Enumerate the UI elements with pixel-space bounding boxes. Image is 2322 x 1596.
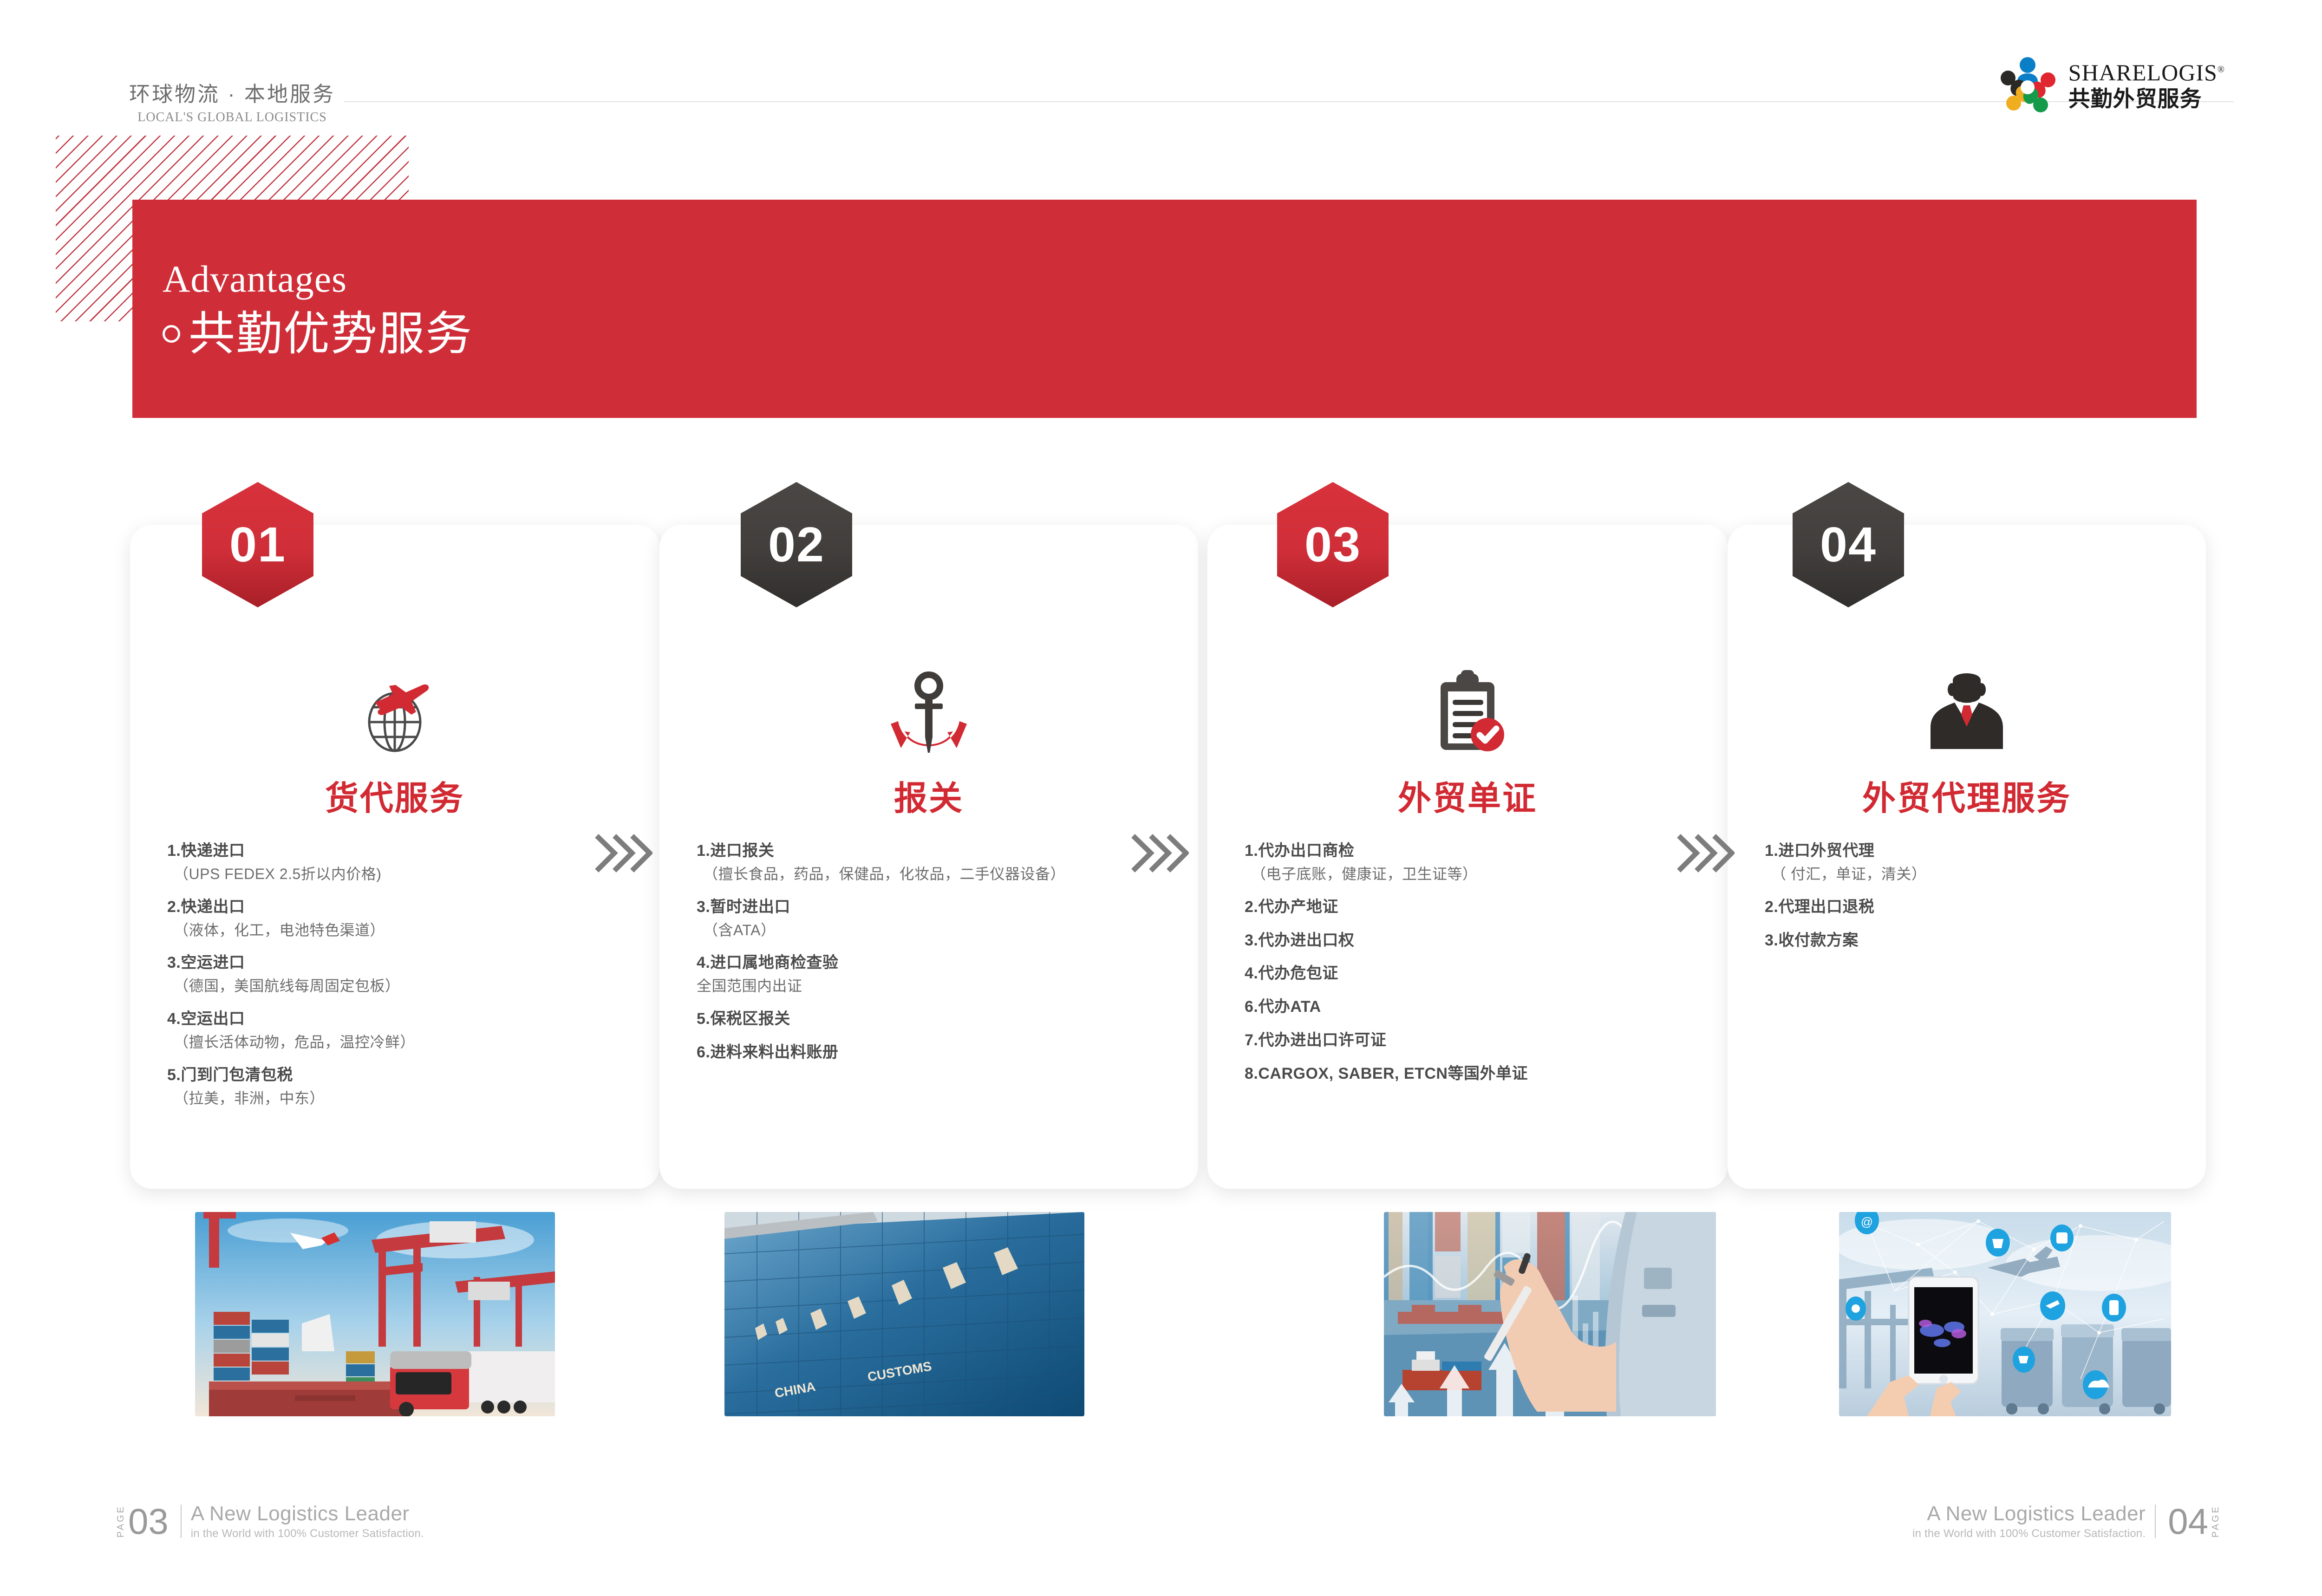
list-item: 1.进口报关 （擅长食品，药品，保健品，化妆品，二手仪器设备）: [697, 840, 1161, 885]
advantage-card-03[interactable]: 03 外贸单证 1.代办出口商检: [1207, 525, 1728, 1189]
list-item-sub: （拉美，非洲，中东）: [174, 1088, 622, 1109]
airplane-globe-icon: [130, 664, 659, 762]
footer-left: PAGE 03 A New Logistics Leader in the Wo…: [116, 1502, 424, 1540]
list-item-main: 8.CARGOX, SABER, ETCN等国外单证: [1245, 1063, 1690, 1085]
footer-tagline-main: A New Logistics Leader: [1927, 1502, 2146, 1526]
list-item-main: 1.进口外贸代理: [1765, 840, 2169, 862]
list-item-sub: （UPS FEDEX 2.5折以内价格): [174, 864, 622, 885]
list-item: 3.收付款方案: [1765, 930, 2169, 951]
anchor-icon: [659, 664, 1198, 762]
card-number-02: 02: [768, 520, 825, 569]
inspector-clipboard-port-photo: [1384, 1212, 1716, 1416]
list-item: 2.代办产地证: [1245, 897, 1690, 918]
card-title-01: 货代服务: [130, 771, 659, 820]
list-item: 4.进口属地商检查验 全国范围内出证: [697, 952, 1161, 997]
list-item-main: 4.代办危包证: [1245, 963, 1690, 984]
list-item: 3.空运进口 （德国，美国航线每周固定包板）: [167, 952, 622, 997]
list-item: 3.代办进出口权: [1245, 930, 1690, 951]
list-item-main: 6.进料来料出料账册: [697, 1042, 1161, 1063]
company-logo: SHARELOGIS® 共勤外贸服务: [1998, 55, 2225, 115]
list-item: 4.空运出口 （擅长活体动物，危品，温控冷鲜）: [167, 1009, 622, 1053]
list-item: 8.CARGOX, SABER, ETCN等国外单证: [1245, 1063, 1690, 1085]
card-list-02: 1.进口报关 （擅长食品，药品，保健品，化妆品，二手仪器设备） 3.暂时进出口 …: [659, 840, 1198, 1075]
advantage-card-02[interactable]: 02 报关 1.进口报关 （擅长食品，药品，保健品，化妆品，二手仪器设备）: [659, 525, 1198, 1189]
footer-right: A New Logistics Leader in the World with…: [1912, 1502, 2220, 1540]
businessman-icon: [1728, 664, 2206, 762]
list-item: 5.保税区报关: [697, 1009, 1161, 1030]
card-title-04: 外贸代理服务: [1728, 771, 2206, 820]
list-item-main: 4.进口属地商检查验: [697, 952, 1161, 974]
page-number-left: 03: [128, 1503, 169, 1539]
page-label-left: PAGE: [116, 1505, 125, 1537]
logo-wordmark: SHARELOGIS®: [2068, 61, 2225, 84]
list-item: 3.暂时进出口 （含ATA）: [697, 897, 1161, 941]
chevron-right-triple-icon-2: [1128, 831, 1189, 875]
footer-tagline-main: A New Logistics Leader: [191, 1502, 424, 1526]
registered-icon: ®: [2218, 64, 2225, 74]
card-number-badge-03: 03: [1277, 482, 1389, 607]
list-item-main: 2.代理出口退税: [1765, 897, 2169, 918]
list-item: 4.代办危包证: [1245, 963, 1690, 984]
list-item-sub: （擅长食品，药品，保健品，化妆品，二手仪器设备）: [703, 864, 1161, 885]
list-item-sub: （德国，美国航线每周固定包板）: [174, 976, 622, 997]
page-number-right: 04: [2168, 1503, 2208, 1539]
list-item-main: 3.暂时进出口: [697, 897, 1161, 918]
port-crane-truck-photo: [195, 1212, 555, 1416]
section-title-cn: 共勤优势服务: [189, 308, 473, 359]
card-list-01: 1.快递进口 （UPS FEDEX 2.5折以内价格) 2.快递出口 （液体，化…: [130, 840, 659, 1120]
footer-tagline-sub: in the World with 100% Customer Satisfac…: [1912, 1527, 2146, 1540]
list-item-main: 7.代办进出口许可证: [1245, 1030, 1690, 1051]
list-item: 1.快递进口 （UPS FEDEX 2.5折以内价格): [167, 840, 622, 885]
list-item-sub: （擅长活体动物，危品，温控冷鲜）: [174, 1032, 622, 1053]
list-item-main: 2.代办产地证: [1245, 897, 1690, 918]
logo-wordmark-text: SHARELOGIS: [2068, 59, 2218, 85]
list-item-main: 2.快递出口: [167, 897, 622, 918]
sharelogis-people-icon: [1998, 55, 2058, 115]
list-item-sub: （含ATA）: [703, 920, 1161, 941]
header-divider: [344, 101, 2234, 102]
logo-wordmark-cn: 共勤外贸服务: [2068, 88, 2225, 110]
card-number-badge-01: 01: [202, 482, 313, 607]
section-title-cn-row: 共勤优势服务: [163, 308, 473, 359]
list-item-sub: （ 付汇，单证，清关）: [1771, 864, 2169, 885]
advantage-card-04[interactable]: 04 外贸代理服务 1.进口外贸代理 （ 付汇，单证，清关）: [1728, 525, 2206, 1189]
circle-bullet-icon: [163, 325, 180, 343]
list-item: 1.进口外贸代理 （ 付汇，单证，清关）: [1765, 840, 2169, 885]
card-number-04: 04: [1820, 520, 1877, 569]
list-item: 2.快递出口 （液体，化工，电池特色渠道）: [167, 897, 622, 941]
list-item: 5.门到门包清包税 （拉美，非洲，中东）: [167, 1065, 622, 1109]
card-number-badge-04: 04: [1793, 482, 1904, 607]
footer-divider-right: [2155, 1505, 2156, 1538]
page-label-right: PAGE: [2211, 1505, 2220, 1537]
footer-tagline-right: A New Logistics Leader in the World with…: [1912, 1502, 2146, 1540]
list-item-main: 5.门到门包清包税: [167, 1065, 622, 1086]
list-item-main: 1.代办出口商检: [1245, 840, 1690, 862]
card-list-04: 1.进口外贸代理 （ 付汇，单证，清关） 2.代理出口退税 3.收付款方案: [1728, 840, 2206, 963]
card-title-02: 报关: [659, 771, 1198, 820]
list-item-main: 3.空运进口: [167, 952, 622, 974]
list-item-main: 1.进口报关: [697, 840, 1161, 862]
footer-divider-left: [181, 1505, 182, 1538]
section-title-en: Advantages: [163, 260, 473, 298]
card-number-03: 03: [1304, 520, 1361, 569]
brand-header: 环球物流 · 本地服务 LOCAL'S GLOBAL LOGISTICS: [116, 81, 348, 125]
list-item-main: 6.代办ATA: [1245, 997, 1690, 1018]
china-customs-building-photo: CHINA CUSTOMS: [724, 1212, 1084, 1416]
chevron-right-triple-icon-3: [1674, 831, 1735, 875]
section-title-group: Advantages 共勤优势服务: [163, 260, 473, 359]
clipboard-check-icon: [1207, 664, 1728, 762]
list-item: 7.代办进出口许可证: [1245, 1030, 1690, 1051]
brand-title-cn: 环球物流 · 本地服务: [116, 81, 348, 107]
list-item-main: 1.快递进口: [167, 840, 622, 862]
list-item-main: 3.代办进出口权: [1245, 930, 1690, 951]
svg-text:@: @: [1861, 1215, 1873, 1229]
list-item-sub: （电子底账，健康证，卫生证等）: [1251, 864, 1690, 885]
list-item: 2.代理出口退税: [1765, 897, 2169, 918]
advantage-card-01[interactable]: 01 货代服务 1.快递进口: [130, 525, 659, 1189]
chevron-right-triple-icon-1: [592, 831, 652, 875]
card-number-01: 01: [229, 520, 286, 569]
slide-root: 环球物流 · 本地服务 LOCAL'S GLOBAL LOGISTICS: [0, 0, 2322, 1596]
list-item-main: 4.空运出口: [167, 1009, 622, 1030]
list-item-main: 3.收付款方案: [1765, 930, 2169, 951]
card-number-badge-02: 02: [741, 482, 852, 607]
list-item: 6.进料来料出料账册: [697, 1042, 1161, 1063]
brand-title-en: LOCAL'S GLOBAL LOGISTICS: [116, 110, 348, 125]
list-item-sub: （液体，化工，电池特色渠道）: [174, 920, 622, 941]
card-title-03: 外贸单证: [1207, 771, 1728, 820]
card-list-03: 1.代办出口商检 （电子底账，健康证，卫生证等） 2.代办产地证 3.代办进出口…: [1207, 840, 1728, 1097]
list-item-main: 5.保税区报关: [697, 1009, 1161, 1030]
footer-tagline-left: A New Logistics Leader in the World with…: [191, 1502, 424, 1540]
digital-logistics-tablet-photo: @: [1839, 1212, 2171, 1416]
list-item: 1.代办出口商检 （电子底账，健康证，卫生证等）: [1245, 840, 1690, 885]
list-item-sub: 全国范围内出证: [697, 976, 1161, 997]
list-item: 6.代办ATA: [1245, 997, 1690, 1018]
footer-tagline-sub: in the World with 100% Customer Satisfac…: [191, 1527, 424, 1540]
